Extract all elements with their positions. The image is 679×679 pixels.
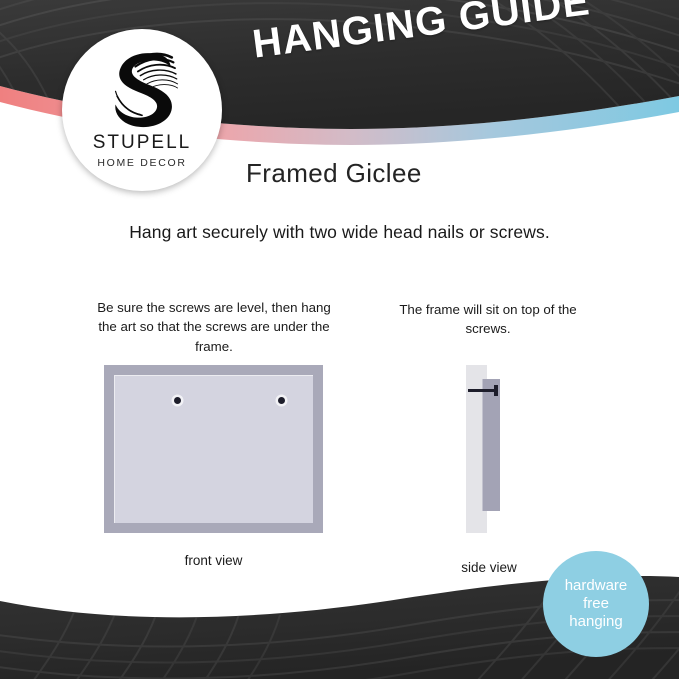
front-view-label: front view (104, 553, 323, 568)
side-view-frame (482, 379, 500, 511)
logo-brand-subtitle: HOME DECOR (97, 158, 186, 169)
logo-brand-name: STUPELL (93, 133, 191, 152)
page-title: HANGING GUIDE (250, 0, 593, 68)
hanging-guide-page: HANGING GUIDE STUPELL HOME DECOR (0, 0, 679, 679)
badge-line-3: hanging (569, 613, 622, 631)
front-view-frame-inner (114, 375, 313, 523)
side-view-label: side view (430, 560, 548, 575)
side-view-diagram (466, 365, 512, 533)
badge-line-2: free (583, 595, 609, 613)
badge-line-1: hardware (565, 577, 628, 595)
front-view-diagram (104, 365, 323, 533)
side-view-screw-head (494, 385, 498, 396)
hardware-free-hanging-badge: hardware free hanging (543, 551, 649, 657)
stupell-s-swoosh-icon (100, 45, 184, 131)
side-view-caption: The frame will sit on top of the screws. (392, 300, 584, 339)
product-type-heading: Framed Giclee (246, 158, 422, 189)
brand-logo-badge: STUPELL HOME DECOR (62, 29, 222, 191)
front-view-caption: Be sure the screws are level, then hang … (93, 298, 335, 356)
screw-dot-right (278, 397, 285, 404)
side-view-screw-shaft (468, 389, 497, 392)
screw-dot-left (174, 397, 181, 404)
intro-instruction: Hang art securely with two wide head nai… (0, 222, 679, 243)
